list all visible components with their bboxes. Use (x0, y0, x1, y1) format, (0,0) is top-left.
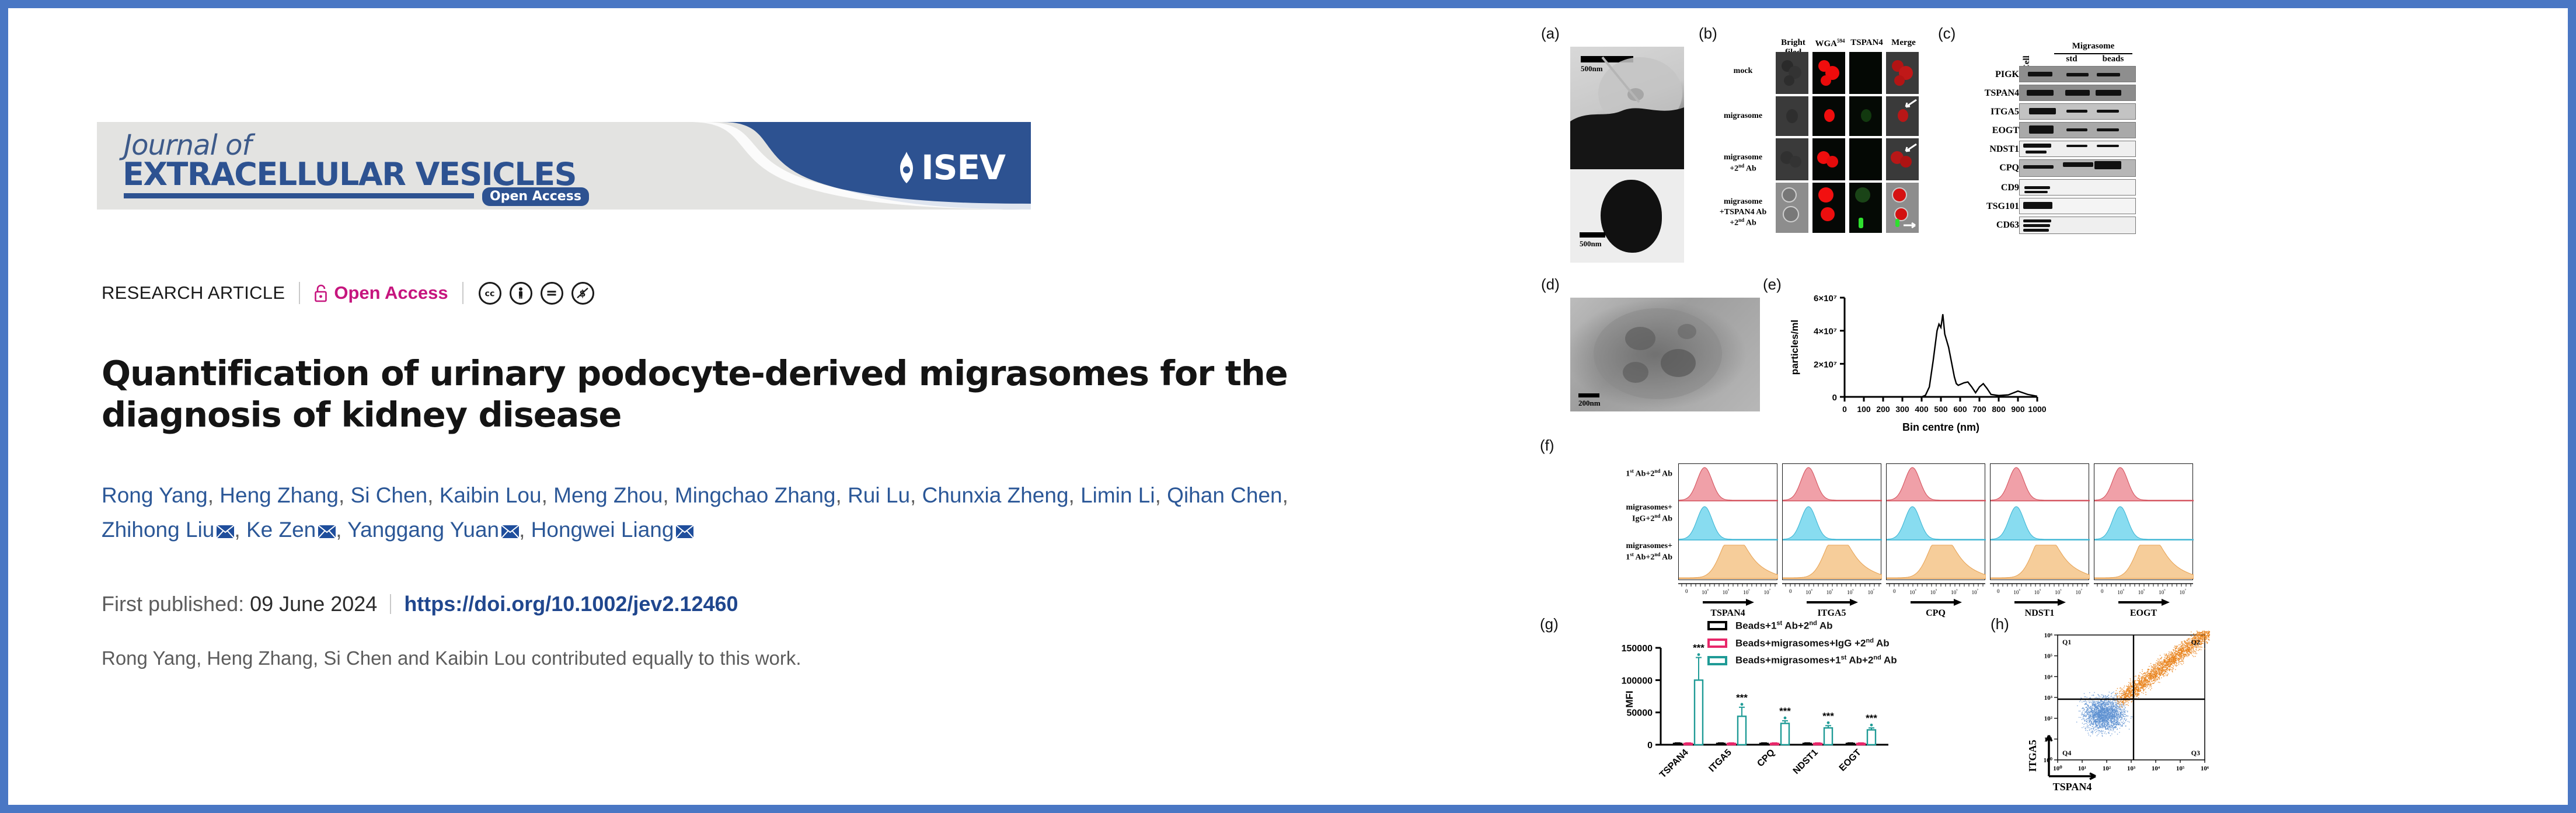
nta-y-tick: 4×10⁷ (1814, 327, 1837, 337)
panel-f-histogram (1679, 503, 1778, 541)
creative-commons-icons[interactable]: cc $ (479, 282, 594, 305)
panel-f-arrow-icon (1909, 599, 1962, 606)
panel-g-bar (1803, 744, 1811, 745)
panel-h-x-tick: 10⁴ (2152, 765, 2160, 772)
panel-f-tick-labels: 010⁴10⁵10⁶10⁷ (1886, 588, 1985, 595)
banner-open-access-badge: Open Access (482, 187, 589, 206)
open-access-group[interactable]: Open Access (314, 282, 448, 303)
panel-b-col-merge: Merge (1886, 38, 1921, 48)
panel-g-bar (1867, 730, 1876, 745)
author-name[interactable]: Chunxia Zheng (922, 483, 1069, 507)
panel-f-arrow-icon (2117, 599, 2170, 606)
panel-g-y-tick: 100000 (1622, 676, 1653, 686)
scale-label-d: 200nm (1578, 399, 1601, 408)
panel-f-tick: 10⁷ (2076, 588, 2082, 595)
panel-d-tem-image: 200nm (1570, 298, 1760, 411)
panel-b-cell (1776, 96, 1808, 136)
corresponding-author-mail-icon[interactable] (217, 525, 234, 538)
nta-x-tick: 500 (1934, 404, 1948, 414)
panel-f-arrow-icon (1702, 599, 1754, 606)
isev-mark-icon (897, 151, 916, 184)
panel-f-histogram (1783, 542, 1882, 580)
panel-g-label: (g) (1540, 615, 1559, 633)
panel-g-bar (1674, 744, 1682, 745)
panel-g-bar (1846, 744, 1855, 745)
panel-h-scatter: 10⁰10¹10²10³10⁴10⁵10⁶ 10⁰10¹10²10³10⁴10⁵… (2008, 630, 2253, 800)
panel-f-tick: 10⁶ (1847, 588, 1853, 595)
author-name[interactable]: Meng Zhou (553, 483, 663, 507)
panel-g-bar (1770, 744, 1779, 745)
panel-b-row-migrasome-2nd: migrasome+2nd Ab (1710, 152, 1776, 174)
panel-c-blot-row (2019, 122, 2136, 138)
nta-plot: 02×10⁷4×10⁷6×10⁷ 01002003004005006007008… (1780, 286, 2055, 438)
panel-f-tick: 10⁷ (1764, 588, 1770, 595)
panel-h-y-tick: 10² (2044, 716, 2053, 723)
panel-g-legend-swatch (1707, 656, 1727, 665)
panel-f-arrow-icon (1805, 599, 1858, 606)
panel-c-blot-row (2019, 85, 2136, 101)
panel-f-tick: 0 (1997, 588, 2000, 595)
panel-g-y-tick: 0 (1647, 741, 1653, 751)
panel-c-blot-row (2019, 66, 2136, 82)
cc-nd-icon[interactable] (541, 282, 563, 305)
panel-f-tick: 10⁴ (2117, 588, 2124, 595)
panel-g-bar (1695, 680, 1703, 745)
panel-f-histogram-box (1990, 463, 2089, 580)
panel-f-histogram (1783, 464, 1882, 502)
panel-g-significance: *** (1693, 643, 1704, 654)
panel-f-histogram (2094, 503, 2194, 541)
panel-b-cell (1886, 183, 1919, 233)
panel-f-tick: 10⁵ (1826, 588, 1833, 595)
panel-c-subheader-beads: beads (2093, 54, 2134, 64)
panel-f-histogram (2094, 464, 2194, 502)
panel-a-dark-particle (1601, 180, 1662, 253)
panel-g-category-label: TSPAN4 (1658, 748, 1690, 780)
panel-f-histogram (1783, 503, 1882, 541)
cc-icon[interactable]: cc (479, 282, 501, 305)
panel-f-tick-labels: 010⁴10⁵10⁶10⁷ (1990, 588, 2089, 595)
panel-a-label: (a) (1541, 25, 1560, 43)
first-published-date: 09 June 2024 (250, 592, 377, 616)
panel-f-tick: 10⁶ (1743, 588, 1749, 595)
panel-g-legend-label: Beads+migrasomes+IgG +2nd Ab (1735, 637, 1890, 650)
scale-bar-d (1578, 393, 1599, 397)
panel-f-tick: 10⁴ (1909, 588, 1916, 595)
panel-f-tick: 10⁵ (1723, 588, 1729, 595)
corresponding-author-mail-icon[interactable] (501, 525, 519, 538)
author-name[interactable]: Hongwei Liang (531, 518, 674, 542)
panel-f-tick: 10⁴ (2013, 588, 2020, 595)
panel-f-histogram (1991, 503, 2090, 541)
panel-h-x-tick: 10⁶ (2201, 765, 2209, 772)
panel-g-bar (1717, 744, 1725, 745)
publication-row: First published: 09 June 2024 https://do… (102, 592, 738, 616)
journal-banner: Journal of EXTRACELLULAR VESICLES Open A… (97, 122, 1031, 210)
panel-f-tick: 10⁶ (2055, 588, 2061, 595)
panel-b-cell (1849, 138, 1882, 180)
panel-g-bar (1857, 744, 1865, 745)
author-list: Rong Yang, Heng Zhang, Si Chen, Kaibin L… (102, 478, 1357, 547)
panel-f-histogram (1679, 464, 1778, 502)
corresponding-author-mail-icon[interactable] (676, 525, 693, 538)
panel-h-x-tick: 10⁰ (2053, 765, 2062, 772)
panel-f-tick: 0 (1685, 588, 1688, 595)
contribution-note: Rong Yang, Heng Zhang, Si Chen and Kaibi… (102, 647, 801, 669)
cc-nc-icon[interactable]: $ (571, 282, 594, 305)
panel-h-y-tick: 10⁶ (2044, 632, 2053, 639)
panel-f-flow-histograms: 1st Ab+2nd Ab migrasomes+IgG+2nd Ab migr… (1561, 455, 2180, 624)
panel-h-x-tick: 10³ (2127, 765, 2136, 772)
panel-a-tem-image-top: 500nm (1570, 47, 1684, 169)
panel-f-tick-labels: 010⁴10⁵10⁶10⁷ (1678, 588, 1777, 595)
panel-f-tick: 10⁵ (2034, 588, 2041, 595)
panel-g-y-axis-label: MFI (1624, 690, 1635, 707)
panel-f-marker-name: EOGT (2094, 608, 2193, 619)
panel-f-marker-name: TSPAN4 (1678, 608, 1777, 619)
panel-g-bar (1684, 744, 1692, 745)
open-access-label: Open Access (334, 282, 448, 303)
panel-b-cell (1812, 183, 1845, 233)
panel-g-category-label: EOGT (1838, 748, 1863, 773)
author-name[interactable]: Rui Lu (848, 483, 910, 507)
panel-h-y-tick: 10³ (2044, 695, 2053, 702)
panel-f-label: (f) (1540, 437, 1554, 455)
panel-c-protein-cd9: CD9 (2001, 183, 2019, 193)
panel-f-tick: 10⁵ (1930, 588, 1937, 595)
panel-b-cell (1812, 52, 1845, 94)
panel-b-cell (1886, 138, 1919, 180)
panel-f-tick-labels: 010⁴10⁵10⁶10⁷ (2094, 588, 2193, 595)
panel-f-histogram (1991, 542, 2090, 580)
panel-c-protein-tsg101: TSG101 (1986, 201, 2019, 212)
author-name[interactable]: Si Chen (351, 483, 428, 507)
panel-h-label: (h) (1991, 615, 2009, 633)
panel-g-category-label: NDST1 (1791, 748, 1820, 776)
panel-f-histogram (2094, 542, 2194, 580)
nta-x-tick: 800 (1992, 404, 2006, 414)
panel-e-nta-chart: 02×10⁷4×10⁷6×10⁷ 01002003004005006007008… (1780, 286, 2055, 438)
panel-b-row-mock: mock (1710, 66, 1776, 76)
panel-c-protein-tspan4: TSPAN4 (1985, 88, 2019, 99)
panel-b-cell (1849, 183, 1882, 233)
panel-g-bar (1814, 744, 1822, 745)
panel-f-histogram-box (2094, 463, 2193, 580)
panel-g-bar (1760, 744, 1768, 745)
panel-f-row-igg: migrasomes+IgG+2nd Ab (1573, 503, 1672, 524)
author-name[interactable]: Yanggang Yuan (347, 518, 499, 542)
panel-g-legend: Beads+1st Ab+2nd AbBeads+migrasomes+IgG … (1707, 620, 1897, 672)
panel-g-legend-swatch (1707, 638, 1727, 648)
meta-divider-2 (462, 282, 463, 304)
panel-b-row-migrasome-tspan4: migrasome+TSPAN4 Ab+2nd Ab (1710, 197, 1776, 228)
panel-b-cell (1812, 96, 1845, 136)
author-name[interactable]: Heng Zhang (219, 483, 339, 507)
panel-c-blot-row (2019, 198, 2136, 214)
panel-h-plot: 10⁰10¹10²10³10⁴10⁵10⁶ 10⁰10¹10²10³10⁴10⁵… (2008, 630, 2253, 800)
panel-c-blot-row (2019, 159, 2136, 177)
panel-h-quadrant-label: Q4 (2062, 749, 2071, 757)
nta-x-tick: 200 (1876, 404, 1890, 414)
panel-b-cell (1849, 96, 1882, 136)
panel-b-cell (1886, 96, 1919, 136)
nta-x-tick: 900 (2011, 404, 2025, 414)
panel-f-tick: 10⁶ (1951, 588, 1957, 595)
nta-x-tick: 0 (1842, 404, 1847, 414)
panel-g-mfi-barchart: Beads+1st Ab+2nd AbBeads+migrasomes+IgG … (1561, 630, 1970, 794)
panel-g-significance: *** (1779, 706, 1791, 717)
panel-c-western-blot: Cell Migrasome std beads PIGK TSPAN4 ITG… (1947, 38, 2139, 271)
nta-y-tick: 2×10⁷ (1814, 360, 1837, 369)
panel-g-legend-row: Beads+migrasomes+IgG +2nd Ab (1707, 637, 1897, 650)
cc-by-icon[interactable] (510, 282, 532, 305)
panel-f-histogram (1679, 542, 1778, 580)
panel-f-marker-name: ITGA5 (1782, 608, 1881, 619)
panel-f-tick: 10⁶ (2159, 588, 2165, 595)
scale-bar-bottom (1580, 232, 1605, 238)
panel-h-x-tick: 10⁵ (2176, 765, 2185, 772)
author-name[interactable]: Ke Zen (246, 518, 316, 542)
panel-g-bar (1738, 716, 1746, 745)
panel-f-arrow-icon (2013, 599, 2066, 606)
panel-f-histogram-box (1782, 463, 1881, 580)
panel-f-tick: 10⁷ (1972, 588, 1978, 595)
first-published-label: First published: (102, 592, 244, 616)
nta-x-tick: 1000 (2028, 404, 2046, 414)
nta-y-axis-label: particles/ml (1789, 320, 1800, 375)
panel-g-significance: *** (1866, 713, 1877, 724)
panel-h-quadrant-label: Q2 (2191, 638, 2200, 646)
article-pane: Journal of EXTRACELLULAR VESICLES Open A… (8, 8, 1517, 805)
panel-f-tick: 10⁴ (1805, 588, 1812, 595)
panel-f-row-migrasomes-1st-2nd: migrasomes+1st Ab+2nd Ab (1573, 542, 1672, 563)
panel-f-histogram (1887, 503, 1986, 541)
figure-pane: (a) 500nm 500nm (b) Bright filed WGA594 … (1529, 12, 2563, 800)
panel-b-row-migrasome: migrasome (1710, 111, 1776, 121)
nta-x-tick: 100 (1857, 404, 1871, 414)
article-type-label: RESEARCH ARTICLE (102, 282, 285, 303)
meta-divider (299, 282, 300, 304)
panel-h-x-tick: 10² (2103, 765, 2111, 772)
panel-f-tick: 0 (2101, 588, 2104, 595)
svg-text:cc: cc (485, 289, 495, 298)
panel-b-cell (1776, 183, 1808, 233)
panel-f-marker-name: CPQ (1886, 608, 1985, 619)
panel-g-legend-label: Beads+migrasomes+1st Ab+2nd Ab (1735, 654, 1897, 667)
panel-f-tick: 10⁷ (1868, 588, 1874, 595)
corresponding-author-mail-icon[interactable] (318, 525, 336, 538)
nta-x-tick: 300 (1895, 404, 1909, 414)
banner-rule (124, 193, 474, 198)
panel-h-y-tick: 10⁵ (2044, 653, 2053, 660)
scale-label-bottom: 500nm (1580, 239, 1602, 249)
panel-b-cell (1812, 138, 1845, 180)
panel-h-x-axis-label: TSPAN4 (2053, 781, 2092, 793)
panel-f-histogram (1887, 542, 1986, 580)
nta-y-tick: 0 (1832, 393, 1837, 403)
panel-g-legend-row: Beads+migrasomes+1st Ab+2nd Ab (1707, 654, 1897, 667)
panel-d-label: (d) (1541, 275, 1560, 294)
isev-label: ISEV (921, 148, 1005, 187)
panel-g-legend-swatch (1707, 621, 1727, 630)
nta-x-tick: 700 (1972, 404, 1986, 414)
panel-c-subheader-std: std (2054, 54, 2089, 64)
panel-b-cell (1849, 52, 1882, 94)
nta-x-tick: 600 (1953, 404, 1967, 414)
panel-a-tem-detail (1570, 47, 1684, 169)
panel-b-cell (1886, 52, 1919, 94)
panel-c-protein-cpq: CPQ (1999, 163, 2019, 173)
nta-x-axis-label: Bin centre (nm) (1902, 421, 1979, 433)
panel-h-quadrant-label: Q3 (2191, 749, 2200, 757)
panel-b-col-wga: WGA594 (1812, 38, 1848, 49)
open-lock-icon (314, 284, 329, 302)
panel-c-blot-row (2019, 103, 2136, 120)
author-name[interactable]: Rong Yang (102, 483, 208, 507)
article-meta-row: RESEARCH ARTICLE Open Access cc (102, 280, 594, 306)
nta-x-tick: 400 (1915, 404, 1929, 414)
doi-link[interactable]: https://doi.org/10.1002/jev2.12460 (404, 592, 738, 616)
panel-a-tem-image-bottom: 500nm (1570, 169, 1684, 263)
panel-c-blot-row (2019, 217, 2136, 234)
panel-g-bar (1781, 723, 1789, 745)
panel-c-blot-row (2019, 179, 2136, 196)
page-title: Quantification of urinary podocyte-deriv… (102, 353, 1357, 437)
panel-e-label: (e) (1763, 275, 1782, 294)
panel-c-migrasome-header: Migrasome (2051, 41, 2136, 51)
panel-c-protein-ndst1: NDST1 (1989, 144, 2019, 155)
author-name[interactable]: Zhihong Liu (102, 518, 214, 542)
panel-f-tick: 10⁷ (2180, 588, 2186, 595)
panel-g-category-label: ITGA5 (1707, 748, 1733, 774)
author-name[interactable]: Kaibin Lou (440, 483, 542, 507)
panel-h-y-tick: 10⁴ (2044, 674, 2053, 681)
panel-c-protein-cd63: CD63 (1996, 220, 2019, 231)
panel-f-tick-labels: 010⁴10⁵10⁶10⁷ (1782, 588, 1881, 595)
panel-c-protein-pigk: PIGK (1995, 69, 2019, 80)
panel-f-histogram-box (1678, 463, 1777, 580)
panel-f-histogram-box (1886, 463, 1985, 580)
panel-g-y-tick: 50000 (1627, 709, 1653, 718)
panel-b-immunofluorescence: Bright filed WGA594 TSPAN4 Merge mock mi… (1710, 38, 1926, 266)
panel-c-protein-eogt: EOGT (1992, 125, 2019, 136)
panel-f-histogram (1991, 464, 2090, 502)
panel-g-significance: *** (1736, 692, 1748, 703)
panel-g-significance: *** (1822, 710, 1834, 721)
panel-g-bar (1727, 744, 1735, 745)
panel-h-x-tick: 10¹ (2078, 765, 2086, 772)
panel-g-legend-label: Beads+1st Ab+2nd Ab (1735, 620, 1833, 632)
panel-b-col-tspan4: TSPAN4 (1849, 38, 1884, 48)
panel-g-category-label: CPQ (1755, 748, 1777, 769)
panel-h-quadrant-label: Q1 (2062, 638, 2071, 646)
isev-logo: ISEV (897, 148, 1005, 187)
panel-b-cell (1776, 52, 1808, 94)
panel-g-bar (1824, 728, 1832, 745)
nta-y-tick: 6×10⁷ (1814, 294, 1837, 303)
panel-f-tick: 0 (1893, 588, 1896, 595)
panel-f-tick: 0 (1789, 588, 1792, 595)
author-name[interactable]: Mingchao Zhang (675, 483, 836, 507)
panel-c-protein-itga5: ITGA5 (1991, 107, 2019, 117)
panel-b-cell (1776, 138, 1808, 180)
panel-c-blot-row (2019, 141, 2136, 157)
panel-g-y-tick: 150000 (1622, 644, 1653, 654)
panel-f-tick: 10⁵ (2138, 588, 2145, 595)
panel-h-y-axis-label: ITGA5 (2027, 739, 2038, 772)
publication-divider (390, 594, 391, 614)
author-name[interactable]: Qihan Chen (1167, 483, 1282, 507)
panel-g-legend-row: Beads+1st Ab+2nd Ab (1707, 620, 1897, 632)
panel-f-row-1st-2nd: 1st Ab+2nd Ab (1573, 468, 1672, 479)
panel-f-tick: 10⁴ (1702, 588, 1708, 595)
author-name[interactable]: Limin Li (1080, 483, 1155, 507)
panel-f-histogram (1887, 464, 1986, 502)
